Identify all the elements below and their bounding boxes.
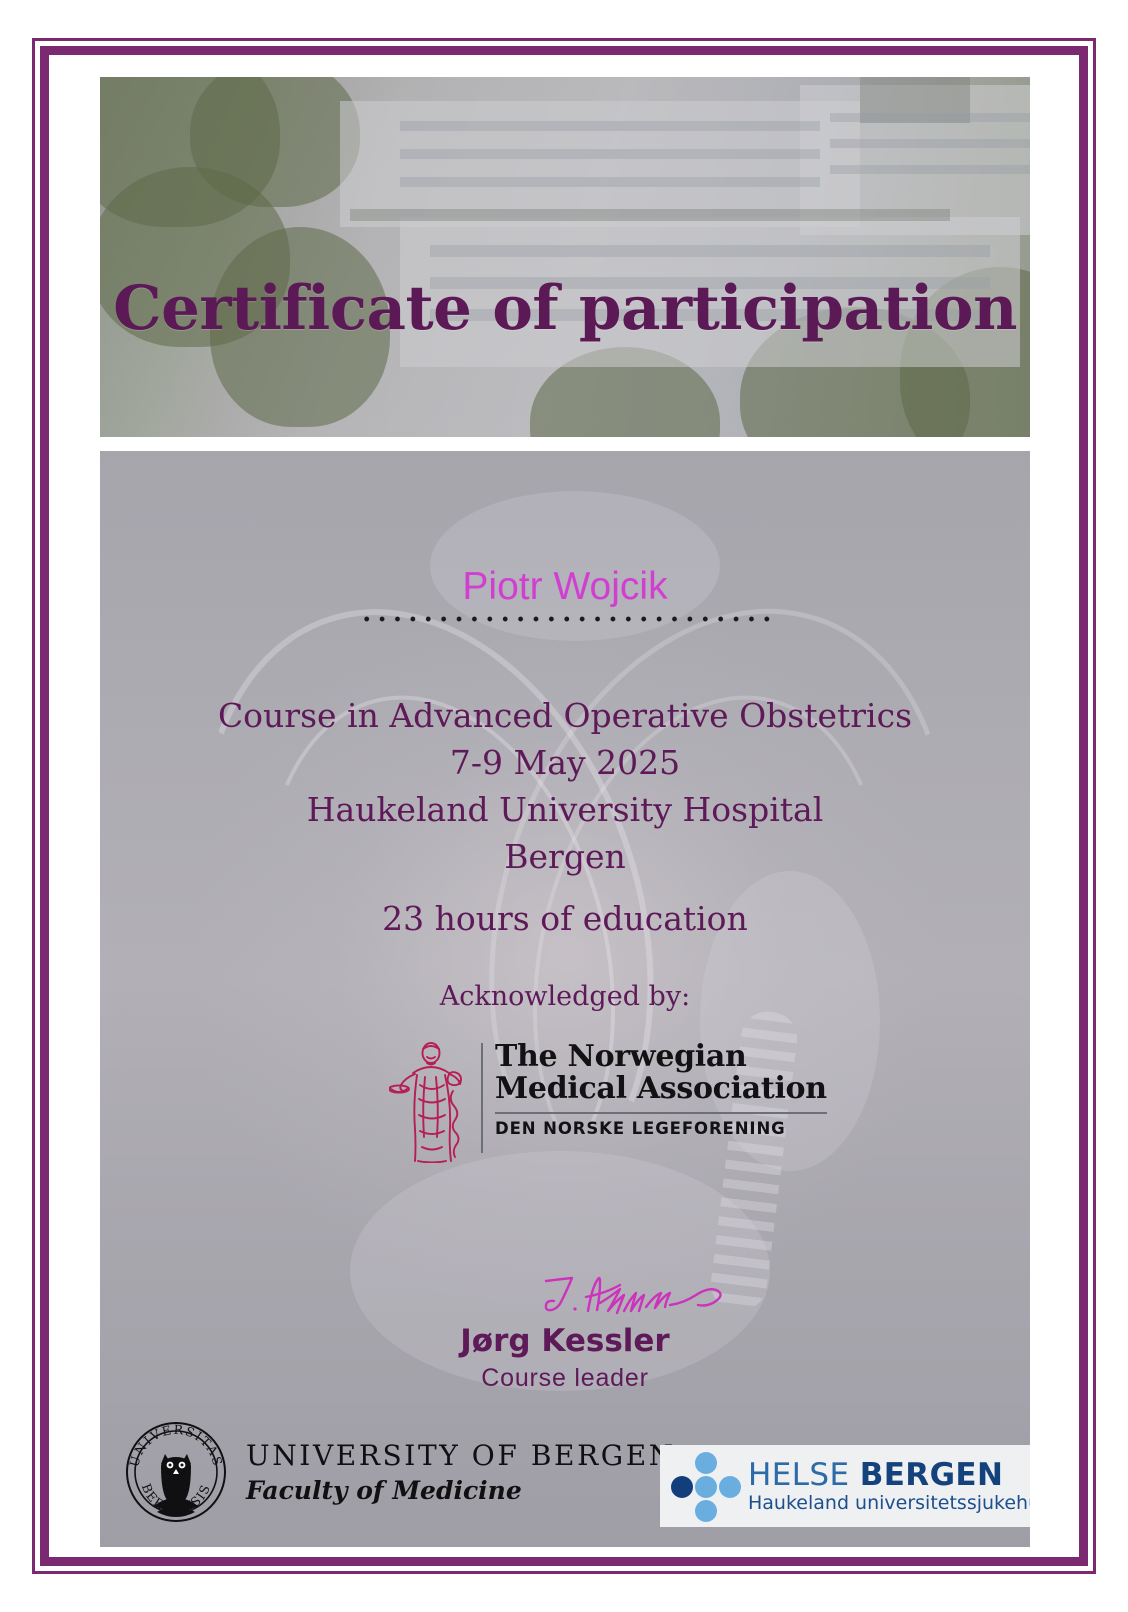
- handwritten-signature: [540, 1271, 740, 1329]
- nma-norwegian-name: DEN NORSKE LEGEFORENING: [495, 1119, 827, 1138]
- signatory-role: Course leader: [100, 1364, 1030, 1393]
- certificate-outer-frame: Certificate of participation: [32, 38, 1096, 1574]
- hospital-name-bold: BERGEN: [860, 1457, 1004, 1493]
- university-name: UNIVERSITY OF BERGEN: [246, 1439, 676, 1472]
- helse-bergen-dots-icon: [666, 1447, 746, 1525]
- course-dates: 7-9 May 2025: [100, 740, 1030, 787]
- header-photo-banner: Certificate of participation: [100, 77, 1030, 437]
- certificate-body-panel: Piotr Wojcik Course in Advanced Operativ…: [100, 451, 1030, 1547]
- helse-bergen-logo: HELSE BERGEN Haukeland universitetssjuke…: [660, 1445, 1030, 1527]
- logo-divider: [481, 1043, 483, 1153]
- hospital-name-light: HELSE: [748, 1457, 860, 1493]
- nma-underline: [495, 1112, 827, 1114]
- acknowledged-by-label: Acknowledged by:: [100, 981, 1030, 1012]
- owl-icon: UNIVERSITAS BERGENSIS: [124, 1420, 228, 1524]
- signatory-name: Jørg Kessler: [100, 1323, 1030, 1359]
- hospital-subtitle: Haukeland universitetssjukehus: [748, 1494, 1030, 1513]
- hospital-building-photo: [100, 77, 1030, 437]
- hospital-name: HELSE BERGEN: [748, 1460, 1030, 1491]
- recipient-block: Piotr Wojcik: [100, 567, 1030, 624]
- asclepius-figure-icon: [389, 1039, 473, 1163]
- recipient-dotted-rule: [359, 614, 771, 624]
- faculty-name: Faculty of Medicine: [246, 1476, 676, 1505]
- page-title: Certificate of participation: [100, 273, 1030, 344]
- course-title: Course in Advanced Operative Obstetrics: [100, 693, 1030, 740]
- certificate-inner-frame: Certificate of participation: [40, 46, 1088, 1566]
- nma-name-line-2: Medical Association: [495, 1073, 827, 1105]
- course-city: Bergen: [100, 834, 1030, 881]
- recipient-name: Piotr Wojcik: [100, 567, 1030, 608]
- nma-name-line-1: The Norwegian: [495, 1041, 827, 1073]
- education-hours: 23 hours of education: [100, 899, 1030, 938]
- certificate-canvas: Certificate of participation: [49, 55, 1079, 1557]
- certificate-page: Certificate of participation: [0, 0, 1128, 1612]
- university-of-bergen-logo: UNIVERSITAS BERGENSIS UNIVERSITY OF BERG…: [124, 1417, 664, 1527]
- course-details-block: Course in Advanced Operative Obstetrics …: [100, 693, 1030, 880]
- course-venue: Haukeland University Hospital: [100, 787, 1030, 834]
- norwegian-medical-association-logo: The Norwegian Medical Association DEN NO…: [389, 1039, 809, 1167]
